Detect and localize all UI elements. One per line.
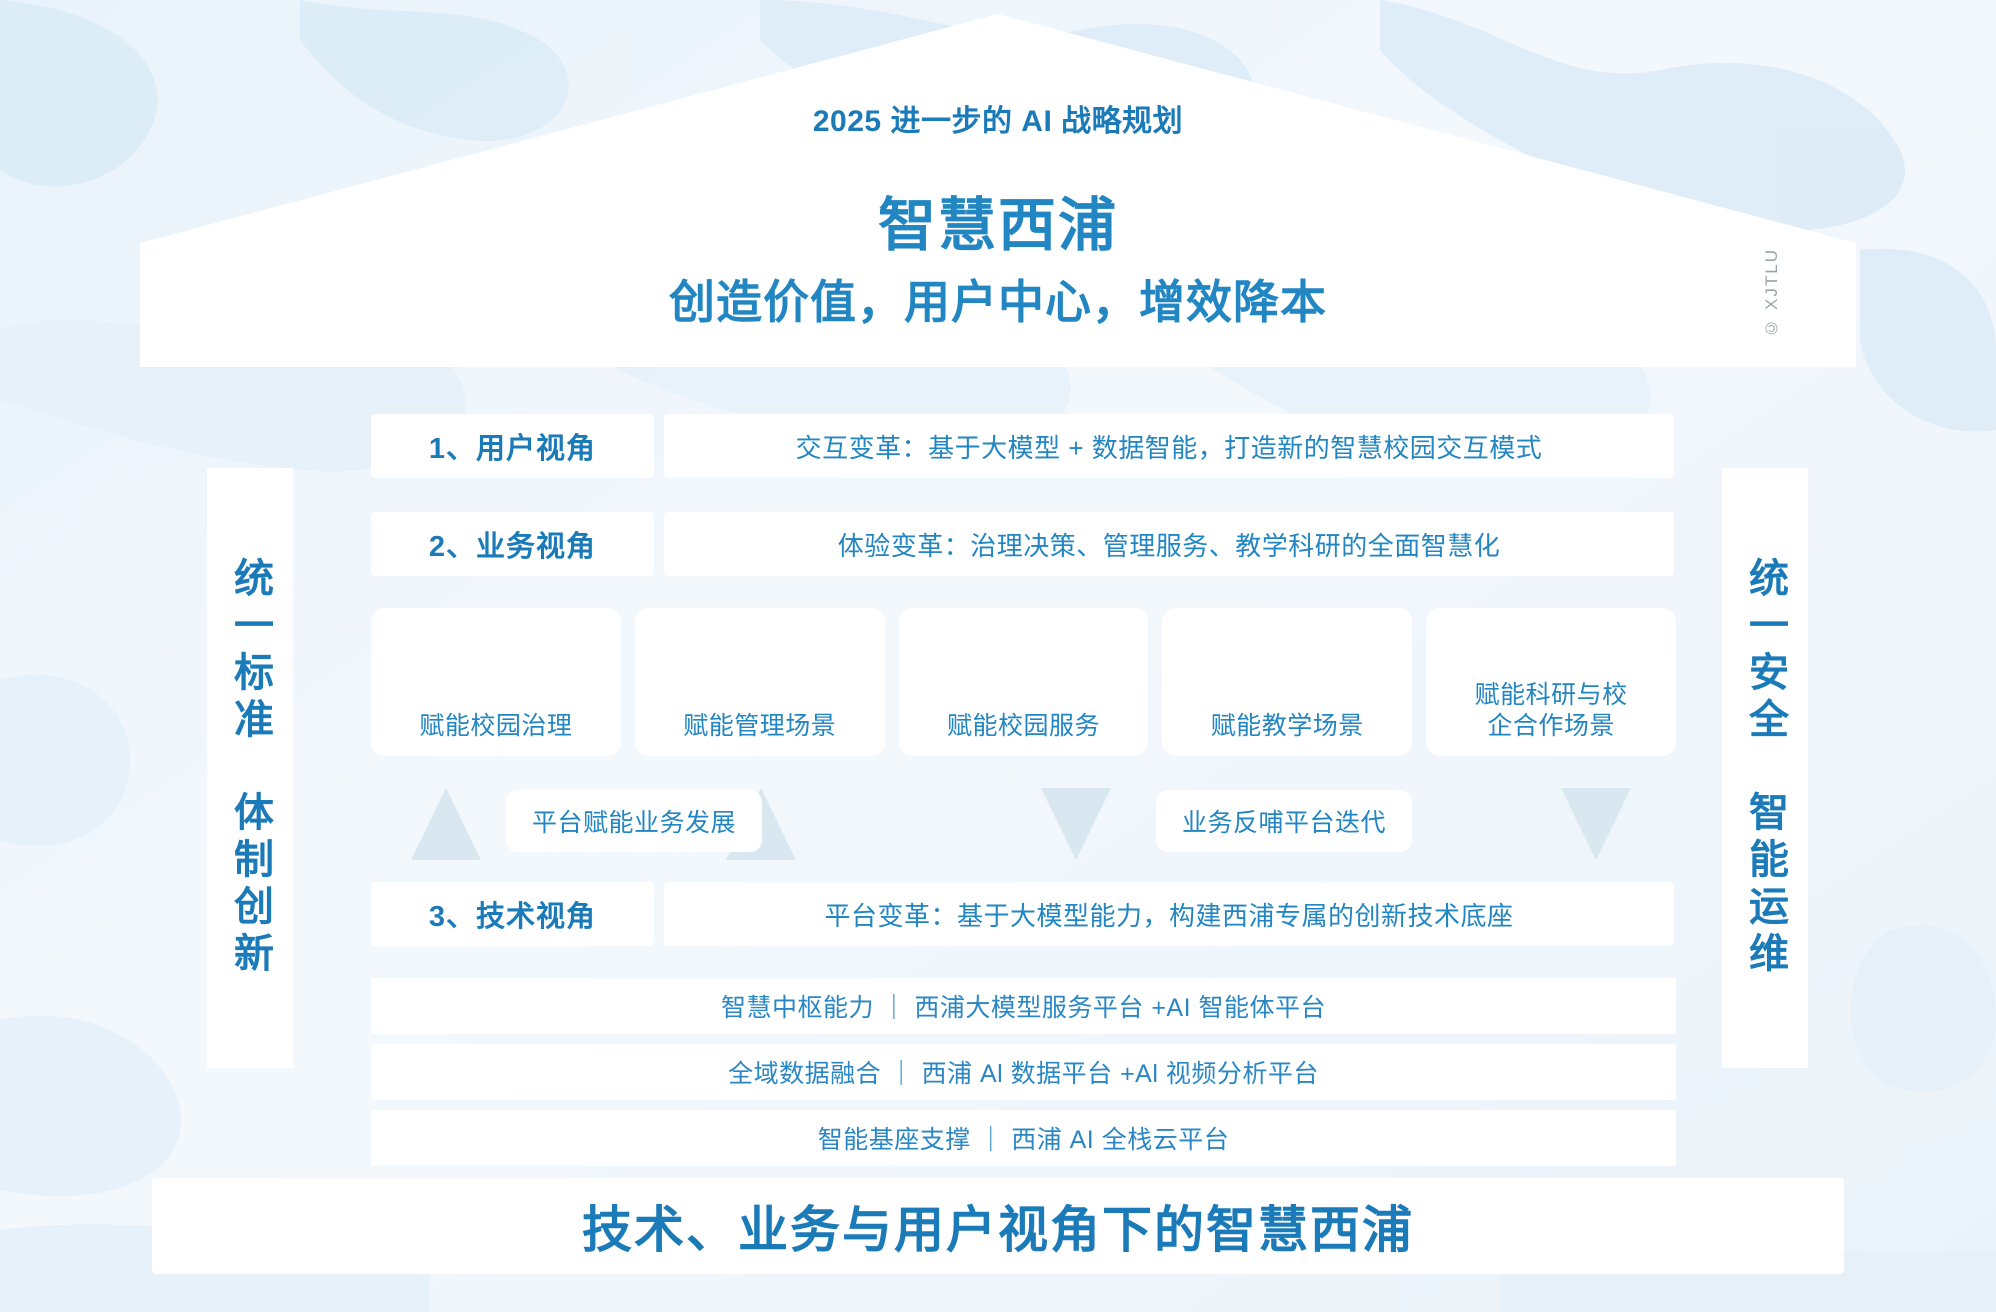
- feedback-loop-band: 平台赋能业务发展 业务反哺平台迭代: [371, 782, 1676, 860]
- up-arrow-icon: [411, 788, 481, 860]
- pillar-right-text-2: 智能运维: [1745, 791, 1785, 979]
- copyright-notice: © XJTLU: [1762, 248, 1802, 338]
- platform-row-hub: 智慧中枢能力 ｜ 西浦大模型服务平台 +AI 智能体平台: [371, 978, 1676, 1034]
- platform-row-data: 全域数据融合 ｜ 西浦 Al 数据平台 +Al 视频分析平台: [371, 1044, 1676, 1100]
- page-title: 智慧西浦: [0, 178, 1996, 262]
- pillar-left-text-1: 统一标准: [230, 557, 270, 745]
- scenario-card[interactable]: 赋能科研与校 企合作场景: [1426, 608, 1676, 756]
- scenario-card-list: 赋能校园治理 赋能管理场景 赋能校园服务 赋能教学场景 赋能科研与校 企合作场景: [371, 608, 1676, 756]
- scenario-card[interactable]: 赋能教学场景: [1162, 608, 1412, 756]
- view-row-business: 2、业务视角 体验变革：治理决策、管理服务、教学科研的全面智慧化: [371, 512, 1674, 576]
- scenario-card[interactable]: 赋能校园治理: [371, 608, 621, 756]
- view-tag-technology: 3、技术视角: [371, 882, 654, 946]
- platform-enables-business-pill: 平台赋能业务发展: [506, 790, 762, 852]
- platform-row-foundation: 智能基座支撑 ｜ 西浦 AI 全栈云平台: [371, 1110, 1676, 1166]
- view-row-user: 1、用户视角 交互变革：基于大模型 + 数据智能，打造新的智慧校园交互模式: [371, 414, 1674, 478]
- pillar-left-text-2: 体制创新: [230, 791, 270, 979]
- page-subtitle: 创造价值，用户中心，增效降本: [0, 266, 1996, 332]
- down-arrow-icon: [1041, 788, 1111, 860]
- kicker-title: 2025 进一步的 AI 战略规划: [0, 96, 1996, 140]
- pillar-left: 统一标准 体制创新: [207, 468, 293, 1068]
- scenario-card[interactable]: 赋能校园服务: [899, 608, 1149, 756]
- scenario-card[interactable]: 赋能管理场景: [635, 608, 885, 756]
- pillar-right-text-1: 统一安全: [1745, 557, 1785, 745]
- view-row-technology: 3、技术视角 平台变革：基于大模型能力，构建西浦专属的创新技术底座: [371, 882, 1674, 946]
- view-tag-user: 1、用户视角: [371, 414, 654, 478]
- view-tag-business: 2、业务视角: [371, 512, 654, 576]
- pillar-right: 统一安全 智能运维: [1722, 468, 1808, 1068]
- view-desc-business: 体验变革：治理决策、管理服务、教学科研的全面智慧化: [664, 512, 1674, 576]
- footer-banner: 技术、业务与用户视角下的智慧西浦: [152, 1178, 1844, 1274]
- business-feeds-platform-pill: 业务反哺平台迭代: [1156, 790, 1412, 852]
- view-desc-technology: 平台变革：基于大模型能力，构建西浦专属的创新技术底座: [664, 882, 1674, 946]
- down-arrow-icon: [1561, 788, 1631, 860]
- view-desc-user: 交互变革：基于大模型 + 数据智能，打造新的智慧校园交互模式: [664, 414, 1674, 478]
